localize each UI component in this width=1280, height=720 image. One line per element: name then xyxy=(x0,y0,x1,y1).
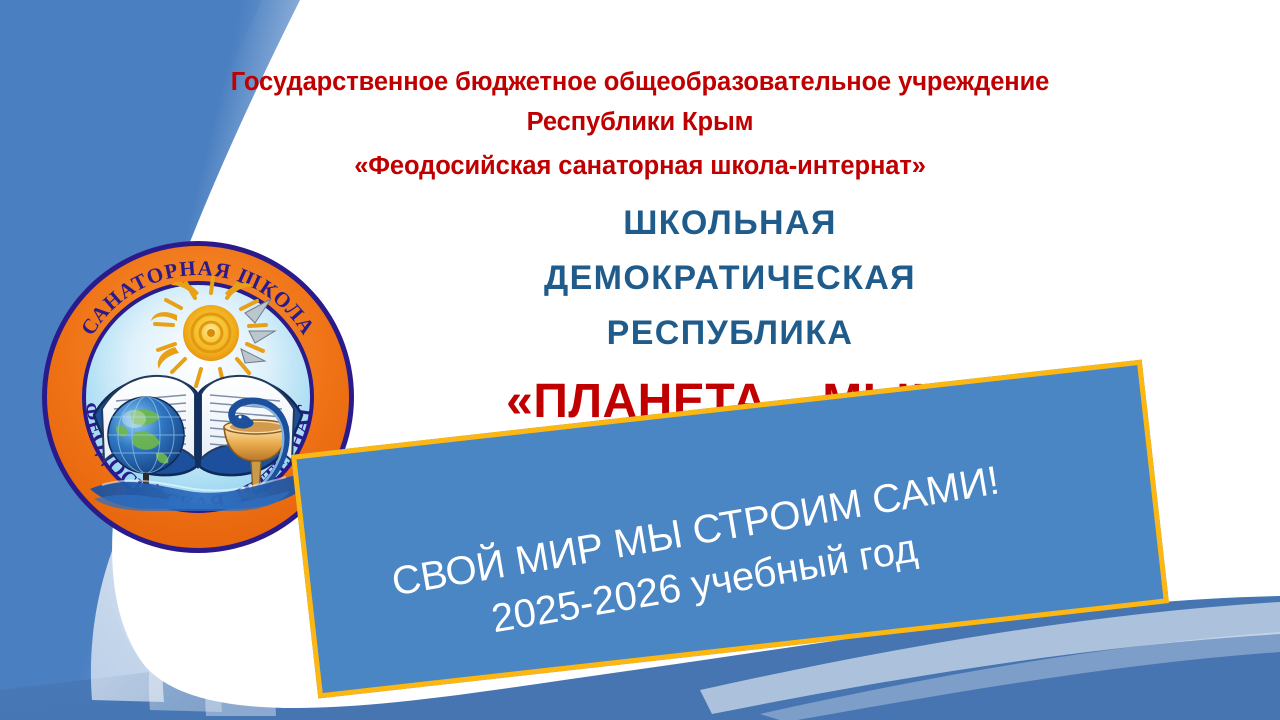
institution-line-3: «Феодосийская санаторная школа-интернат» xyxy=(0,146,1280,186)
institution-line-2: Республики Крым xyxy=(0,102,1280,142)
title-line-1: ШКОЛЬНАЯ xyxy=(330,196,1130,251)
institution-line-1: Государственное бюджетное общеобразовате… xyxy=(0,62,1280,102)
presentation-slide: Государственное бюджетное общеобразовате… xyxy=(0,0,1280,720)
title-line-2: ДЕМОКРАТИЧЕСКАЯ xyxy=(330,251,1130,306)
title-line-3: РЕСПУБЛИКА xyxy=(330,306,1130,361)
institution-heading: Государственное бюджетное общеобразовате… xyxy=(0,62,1280,186)
